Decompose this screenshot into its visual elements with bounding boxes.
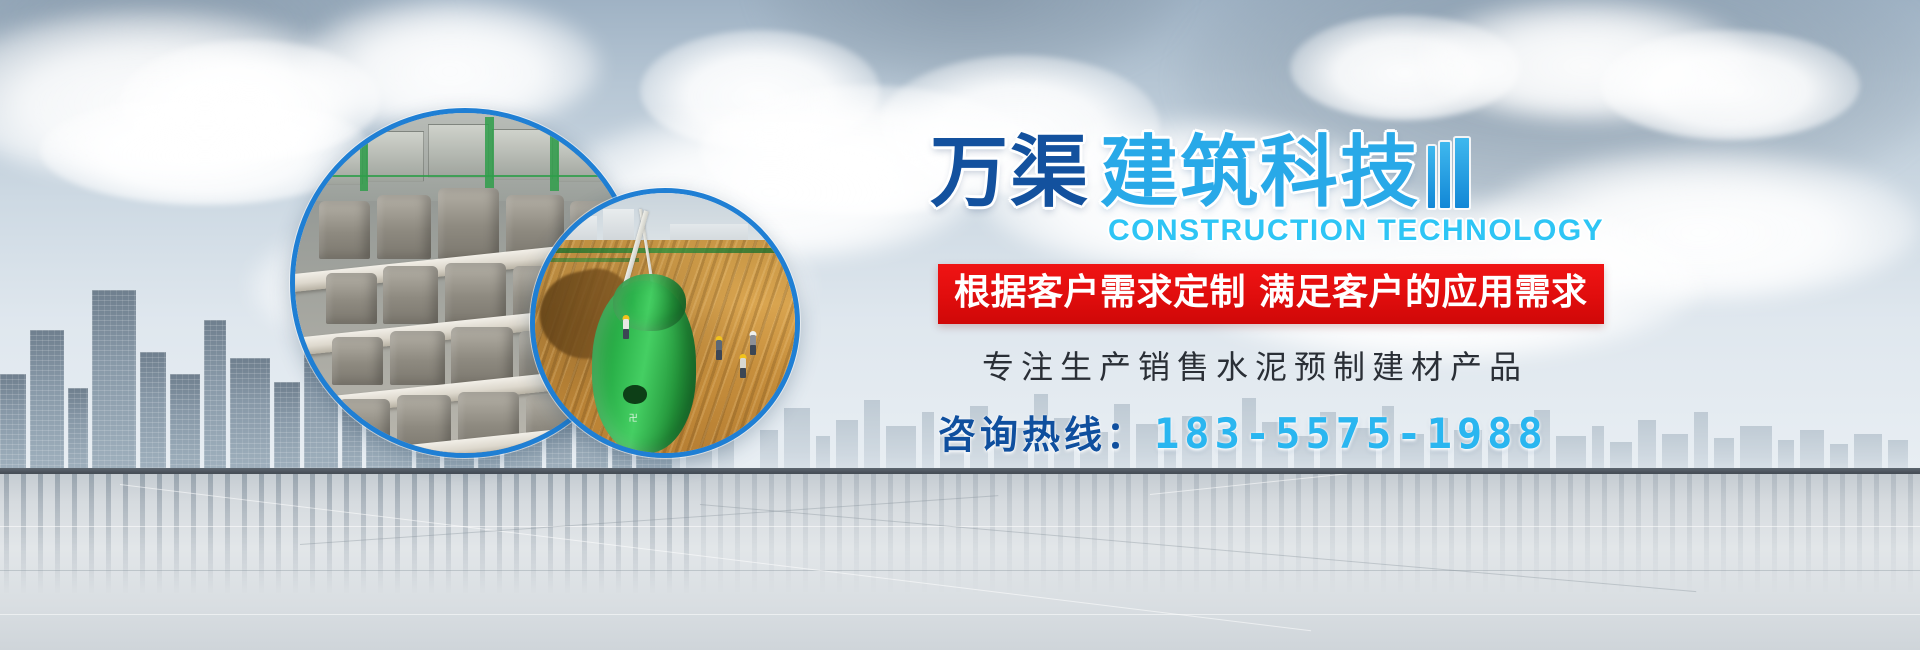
company-logo: 万渠 建筑科技 [930,120,1910,212]
red-highlight-banner: 根据客户需求定制 满足客户的应用需求 [938,264,1604,324]
three-vertical-bars-icon [1428,138,1469,208]
english-subtitle: CONSTRUCTION TECHNOLOGY [1108,214,1910,248]
hotline-label: 咨询热线： [938,404,1148,459]
hotline-block: 咨询热线： 183-5575-1988 [938,404,1910,459]
hotline-number: 183-5575-1988 [1154,409,1548,458]
promotional-banner: 卍 万渠 建筑科技 CONSTRUCTION TECHNOLOGY [0,0,1920,650]
septic-tank-installation-photo: 卍 [530,188,800,458]
banner-copy: 万渠 建筑科技 CONSTRUCTION TECHNOLOGY 根据客户需求定制… [930,120,1910,459]
tagline: 专注生产销售水泥预制建材产品 [982,342,1910,388]
company-name-light: 建筑科技 [1100,134,1420,212]
plaza-floor [0,474,1920,650]
company-name-dark: 万渠 [930,134,1090,212]
